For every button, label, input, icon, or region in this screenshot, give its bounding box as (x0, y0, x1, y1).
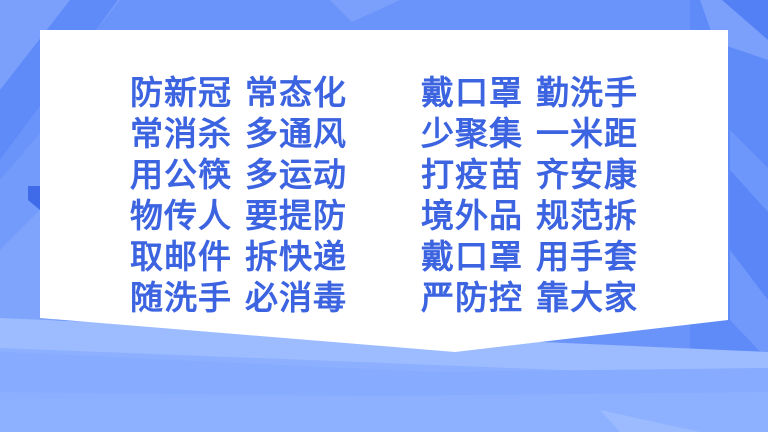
slogan-line: 严防控 靠大家 (421, 277, 638, 318)
slogan-phrase-second: 规范拆 (536, 195, 638, 236)
slogan-phrase-first: 境外品 (421, 195, 523, 236)
slogan-line: 少聚集 一米距 (421, 113, 638, 154)
slogan-line: 戴口罩 用手套 (421, 236, 638, 277)
slogan-phrase-first: 随洗手 (130, 277, 232, 318)
slogan-column-right: 戴口罩 勤洗手 少聚集 一米距 打疫苗 齐安康 境外品 规范拆 戴口罩 (421, 72, 638, 318)
slogan-phrase-first: 严防控 (421, 277, 523, 318)
slogan-line: 用公筷 多运动 (130, 154, 347, 195)
slogan-phrase-first: 防新冠 (130, 72, 232, 113)
poster-canvas: 防新冠 常态化 常消杀 多通风 用公筷 多运动 物传人 要提防 取邮件 (0, 0, 768, 432)
slogan-phrase-first: 戴口罩 (421, 236, 523, 277)
slogan-phrase-second: 用手套 (536, 236, 638, 277)
slogan-line: 常消杀 多通风 (130, 113, 347, 154)
slogan-phrase-first: 取邮件 (130, 236, 232, 277)
slogan-phrase-first: 打疫苗 (421, 154, 523, 195)
slogan-phrase-second: 必消毒 (245, 277, 347, 318)
slogan-line: 随洗手 必消毒 (130, 277, 347, 318)
slogan-phrase-second: 多通风 (245, 113, 347, 154)
slogan-phrase-first: 物传人 (130, 195, 232, 236)
slogan-phrase-first: 少聚集 (421, 113, 523, 154)
slogan-line: 境外品 规范拆 (421, 195, 638, 236)
slogan-phrase-second: 拆快递 (245, 236, 347, 277)
slogan-phrase-second: 靠大家 (536, 277, 638, 318)
slogan-phrase-second: 齐安康 (536, 154, 638, 195)
slogan-line: 取邮件 拆快递 (130, 236, 347, 277)
slogan-phrase-second: 要提防 (245, 195, 347, 236)
slogan-phrase-first: 常消杀 (130, 113, 232, 154)
slogan-phrase-second: 勤洗手 (536, 72, 638, 113)
slogan-phrase-first: 戴口罩 (421, 72, 523, 113)
slogan-line: 防新冠 常态化 (130, 72, 347, 113)
slogan-line: 打疫苗 齐安康 (421, 154, 638, 195)
slogan-phrase-second: 常态化 (245, 72, 347, 113)
slogan-phrase-second: 多运动 (245, 154, 347, 195)
slogan-columns: 防新冠 常态化 常消杀 多通风 用公筷 多运动 物传人 要提防 取邮件 (0, 72, 768, 318)
slogan-phrase-first: 用公筷 (130, 154, 232, 195)
slogan-column-left: 防新冠 常态化 常消杀 多通风 用公筷 多运动 物传人 要提防 取邮件 (130, 72, 347, 318)
slogan-line: 物传人 要提防 (130, 195, 347, 236)
slogan-phrase-second: 一米距 (536, 113, 638, 154)
slogan-line: 戴口罩 勤洗手 (421, 72, 638, 113)
